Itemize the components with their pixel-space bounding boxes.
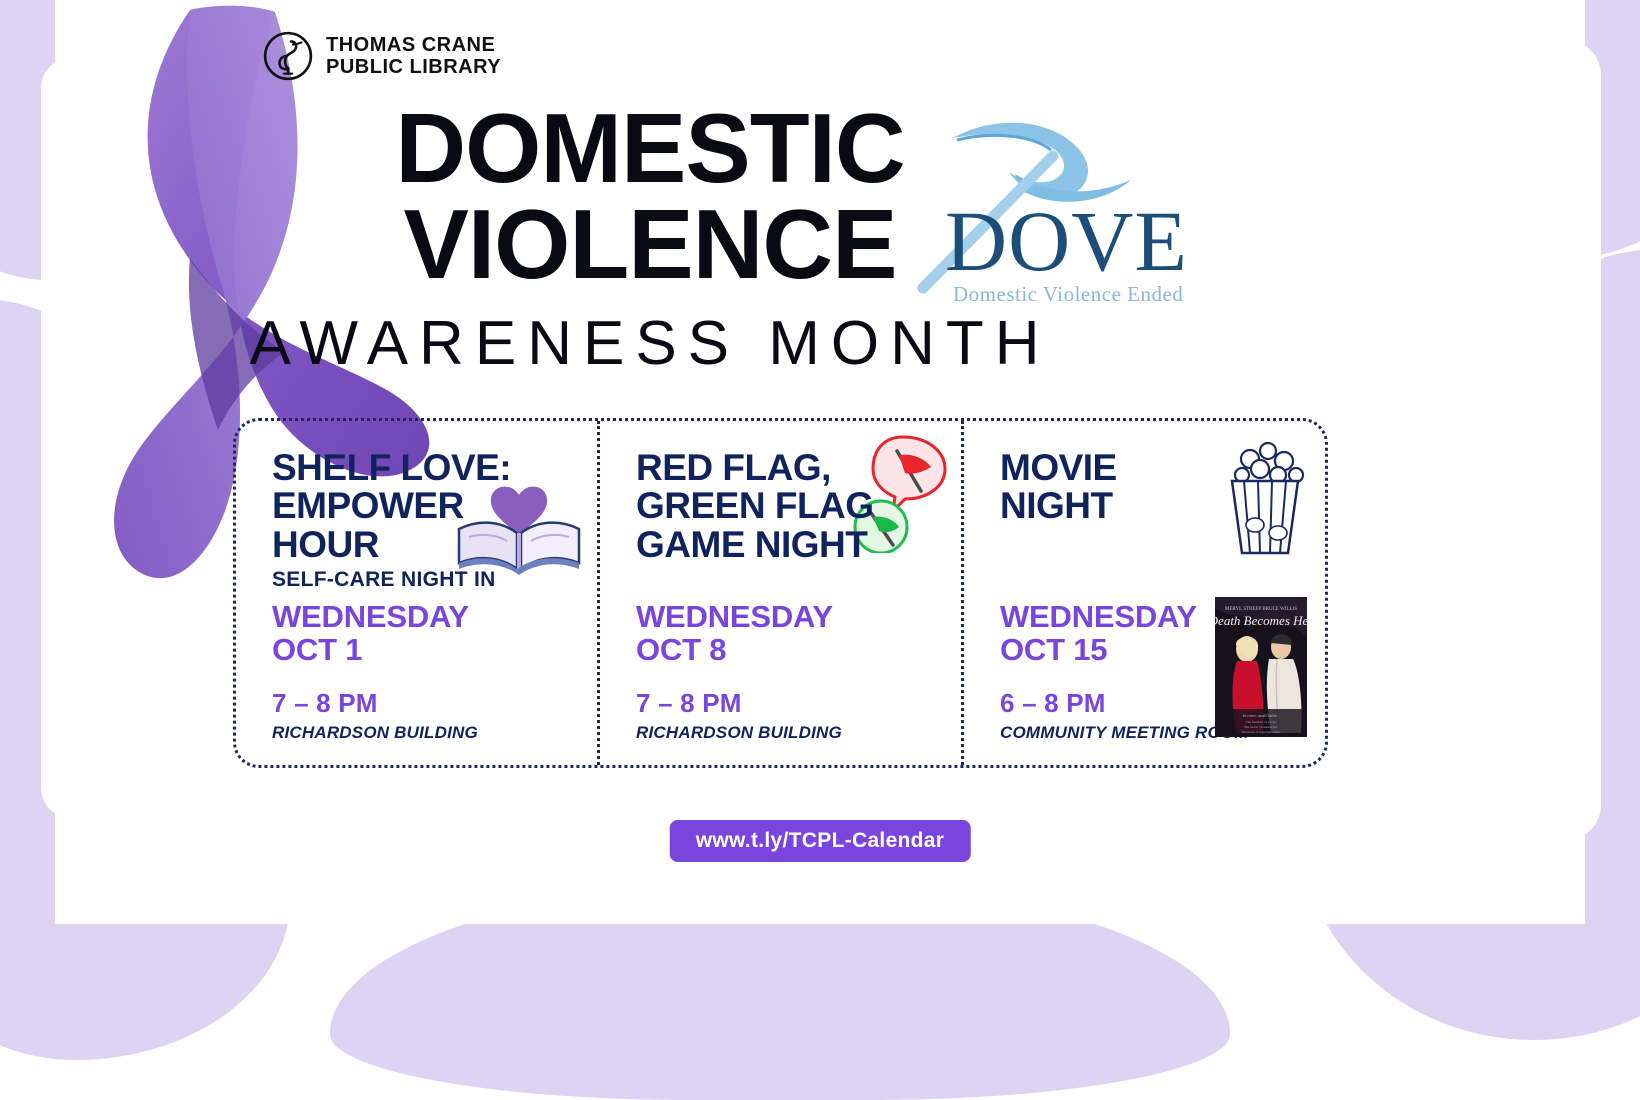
- event-title: RED FLAG, GREEN FLAG GAME NIGHT: [636, 449, 935, 564]
- poster-content: THOMAS CRANE PUBLIC LIBRARY DOMESTIC VIO…: [0, 0, 1640, 924]
- event-card-movie-night[interactable]: MOVIE NIGHT MERYL STREEP BRUCE WILLIS De…: [961, 421, 1325, 765]
- dove-partner-logo: DOVE Domestic Violence Ended: [905, 110, 1215, 305]
- event-card-red-flag-green-flag[interactable]: RED FLAG, GREEN FLAG GAME NIGHT WEDNESDA…: [597, 421, 961, 765]
- movie-poster-death-becomes-her: MERYL STREEP BRUCE WILLIS Death Becomes …: [1215, 597, 1307, 737]
- svg-text:The secret of eternal life.: The secret of eternal life.: [1244, 725, 1278, 729]
- event-time: 7 – 8 PM: [272, 688, 378, 719]
- event-subtitle: SELF-CARE NIGHT IN: [272, 568, 571, 592]
- dove-tagline: Domestic Violence Ended: [953, 282, 1183, 307]
- event-venue: RICHARDSON BUILDING: [272, 723, 478, 743]
- calendar-url-button[interactable]: www.t.ly/TCPL-Calendar: [670, 820, 971, 862]
- event-time: 7 – 8 PM: [636, 688, 742, 719]
- library-logo: THOMAS CRANE PUBLIC LIBRARY: [262, 30, 501, 82]
- event-venue: COMMUNITY MEETING ROOM: [1000, 723, 1249, 743]
- event-card-shelf-love[interactable]: SHELF LOVE: EMPOWER HOUR SELF-CARE NIGHT…: [236, 421, 597, 765]
- svg-text:The terror of injection center: The terror of injection center.: [1241, 730, 1281, 734]
- svg-text:Death Becomes Her: Death Becomes Her: [1215, 613, 1307, 628]
- svg-text:The freedom of youth.: The freedom of youth.: [1246, 720, 1277, 724]
- headline-subtitle: AWARENESS MONTH: [0, 308, 1300, 379]
- event-title: SHELF LOVE: EMPOWER HOUR: [272, 449, 571, 564]
- svg-text:MERYL STREEP BRUCE WILLIS: MERYL STREEP BRUCE WILLIS: [1225, 607, 1297, 612]
- library-name: THOMAS CRANE PUBLIC LIBRARY: [326, 34, 501, 78]
- event-time: 6 – 8 PM: [1000, 688, 1106, 719]
- event-venue: RICHARDSON BUILDING: [636, 723, 842, 743]
- event-title: MOVIE NIGHT: [1000, 449, 1299, 526]
- crane-bird-circle-icon: [262, 30, 314, 82]
- event-day: WEDNESDAY OCT 8: [636, 601, 833, 667]
- event-day: WEDNESDAY OCT 15: [1000, 601, 1197, 667]
- event-day: WEDNESDAY OCT 1: [272, 601, 469, 667]
- events-container: SHELF LOVE: EMPOWER HOUR SELF-CARE NIGHT…: [233, 418, 1328, 768]
- dove-wordmark: DOVE: [945, 198, 1188, 284]
